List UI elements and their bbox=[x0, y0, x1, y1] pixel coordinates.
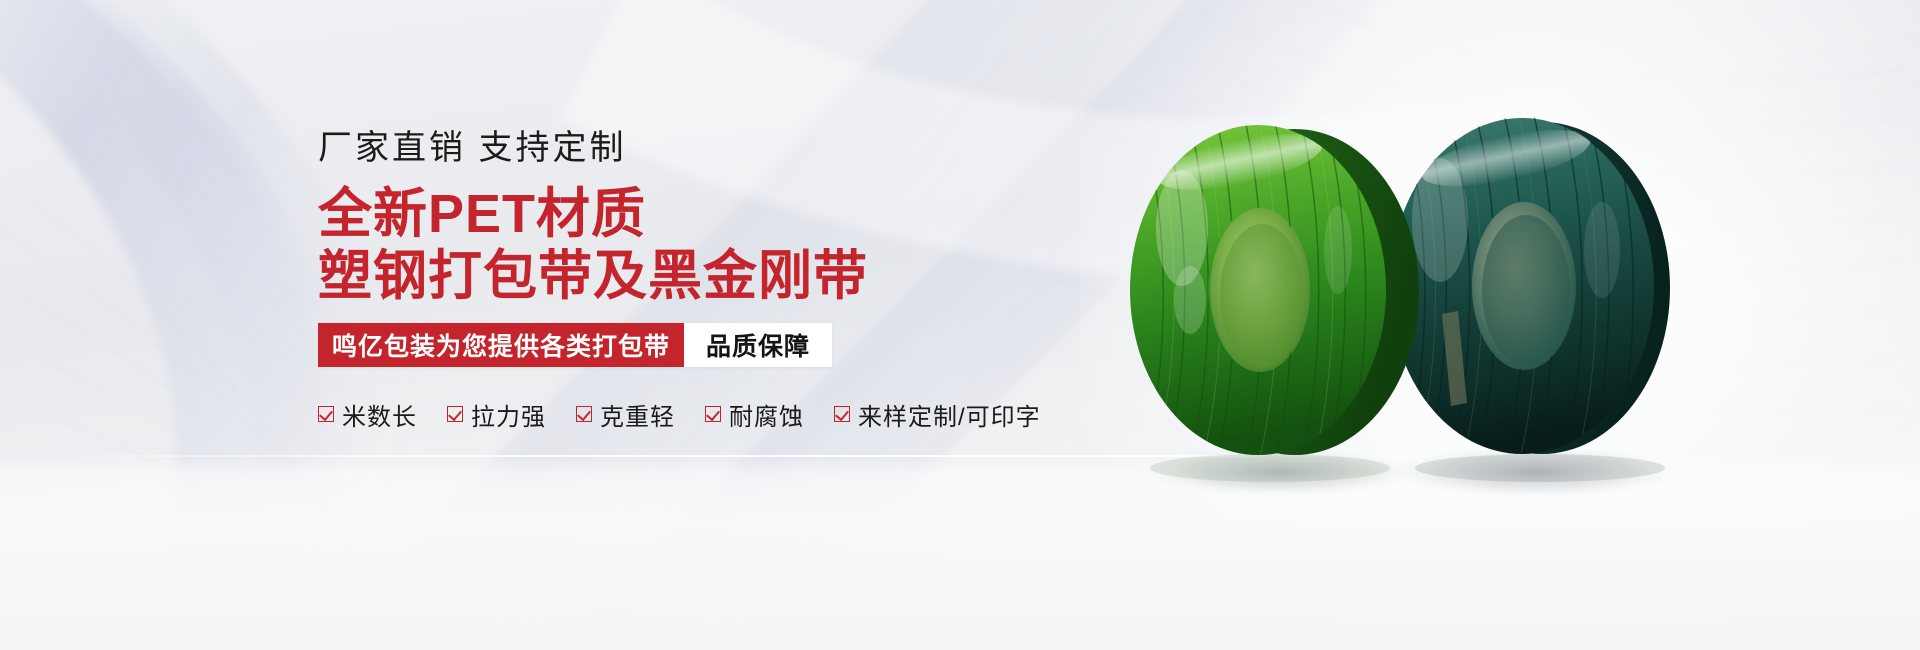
feature-item: 克重轻 bbox=[576, 397, 675, 432]
dark-teal-pet-strapping-coil bbox=[1390, 114, 1670, 458]
green-pet-strapping-coil bbox=[1130, 116, 1419, 458]
checkbox-checked-icon bbox=[447, 406, 463, 422]
feature-item: 来样定制/可印字 bbox=[834, 397, 1041, 432]
feature-item: 拉力强 bbox=[447, 397, 546, 432]
tagline-bar: 鸣亿包装为您提供各类打包带 品质保障 bbox=[318, 323, 832, 367]
tagline-red-text: 鸣亿包装为您提供各类打包带 bbox=[318, 323, 684, 367]
banner-copy-block: 厂家直销 支持定制 全新PET材质 塑钢打包带及黑金刚带 鸣亿包装为您提供各类打… bbox=[318, 128, 1018, 432]
product-photo-strapping-coils bbox=[1090, 100, 1850, 520]
checkbox-checked-icon bbox=[576, 406, 592, 422]
feature-label: 耐腐蚀 bbox=[729, 397, 804, 432]
feature-label: 拉力强 bbox=[471, 397, 546, 432]
checkbox-checked-icon bbox=[318, 406, 334, 422]
quality-badge: 品质保障 bbox=[684, 323, 832, 367]
eyebrow-text: 厂家直销 支持定制 bbox=[318, 128, 1018, 169]
feature-item: 耐腐蚀 bbox=[705, 397, 804, 432]
headline-line-1: 全新PET材质 bbox=[318, 183, 1018, 245]
feature-list: 米数长 拉力强 克重轻 耐腐蚀 来样定制/可印字 bbox=[318, 397, 1018, 432]
checkbox-checked-icon bbox=[834, 406, 850, 422]
feature-label: 来样定制/可印字 bbox=[858, 397, 1041, 432]
checkbox-checked-icon bbox=[705, 406, 721, 422]
feature-item: 米数长 bbox=[318, 397, 417, 432]
headline-line-2: 塑钢打包带及黑金刚带 bbox=[318, 245, 1018, 307]
feature-label: 克重轻 bbox=[600, 397, 675, 432]
promo-banner: 厂家直销 支持定制 全新PET材质 塑钢打包带及黑金刚带 鸣亿包装为您提供各类打… bbox=[0, 0, 1920, 650]
feature-label: 米数长 bbox=[342, 397, 417, 432]
